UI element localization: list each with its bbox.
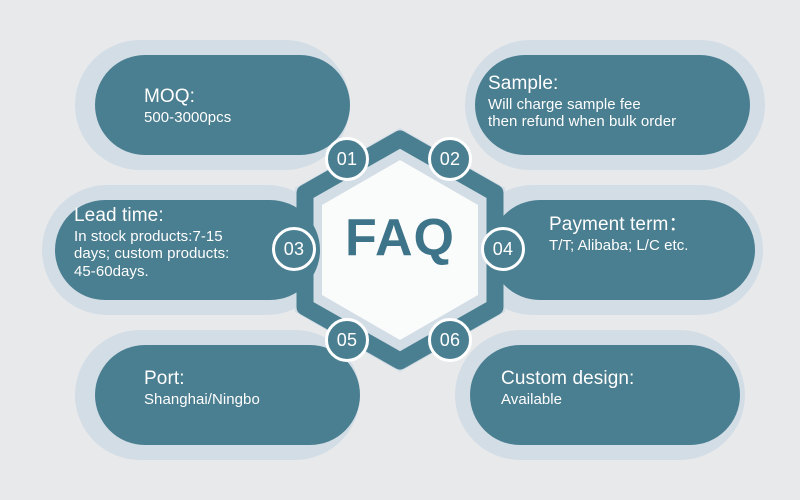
faq-item-moq: MOQ: 500-3000pcs bbox=[144, 86, 231, 126]
step-badge-06[interactable]: 06 bbox=[428, 318, 472, 362]
step-badge-01[interactable]: 01 bbox=[325, 137, 369, 181]
faq-item-port-body-line-1: Shanghai/Ningbo bbox=[144, 391, 260, 408]
step-badge-02[interactable]: 02 bbox=[428, 137, 472, 181]
faq-item-moq-body-line-1: 500-3000pcs bbox=[144, 109, 231, 126]
faq-item-sample: Sample: Will charge sample fee then refu… bbox=[488, 73, 676, 131]
faq-item-sample-body-line-2: then refund when bulk order bbox=[488, 113, 676, 130]
faq-item-lead-time-body-line-3: 45-60days. bbox=[74, 263, 229, 280]
faq-item-moq-title: MOQ: bbox=[144, 86, 231, 108]
step-badge-05[interactable]: 05 bbox=[325, 318, 369, 362]
faq-item-custom-design: Custom design: Available bbox=[501, 368, 634, 408]
faq-item-custom-design-title: Custom design: bbox=[501, 368, 634, 390]
faq-item-custom-design-body: Available bbox=[501, 391, 634, 408]
faq-item-port: Port: Shanghai/Ningbo bbox=[144, 368, 260, 408]
faq-infographic: MOQ: 500-3000pcs Sample: Will charge sam… bbox=[0, 0, 800, 500]
faq-item-sample-title: Sample: bbox=[488, 73, 676, 95]
faq-item-moq-body: 500-3000pcs bbox=[144, 109, 231, 126]
faq-item-custom-design-body-line-1: Available bbox=[501, 391, 634, 408]
step-badge-03[interactable]: 03 bbox=[272, 227, 316, 271]
faq-item-port-body: Shanghai/Ningbo bbox=[144, 391, 260, 408]
center-label: FAQ bbox=[0, 212, 800, 264]
faq-item-port-title: Port: bbox=[144, 368, 260, 390]
faq-item-sample-body: Will charge sample fee then refund when … bbox=[488, 96, 676, 131]
step-badge-04[interactable]: 04 bbox=[481, 227, 525, 271]
faq-item-sample-body-line-1: Will charge sample fee bbox=[488, 96, 676, 113]
